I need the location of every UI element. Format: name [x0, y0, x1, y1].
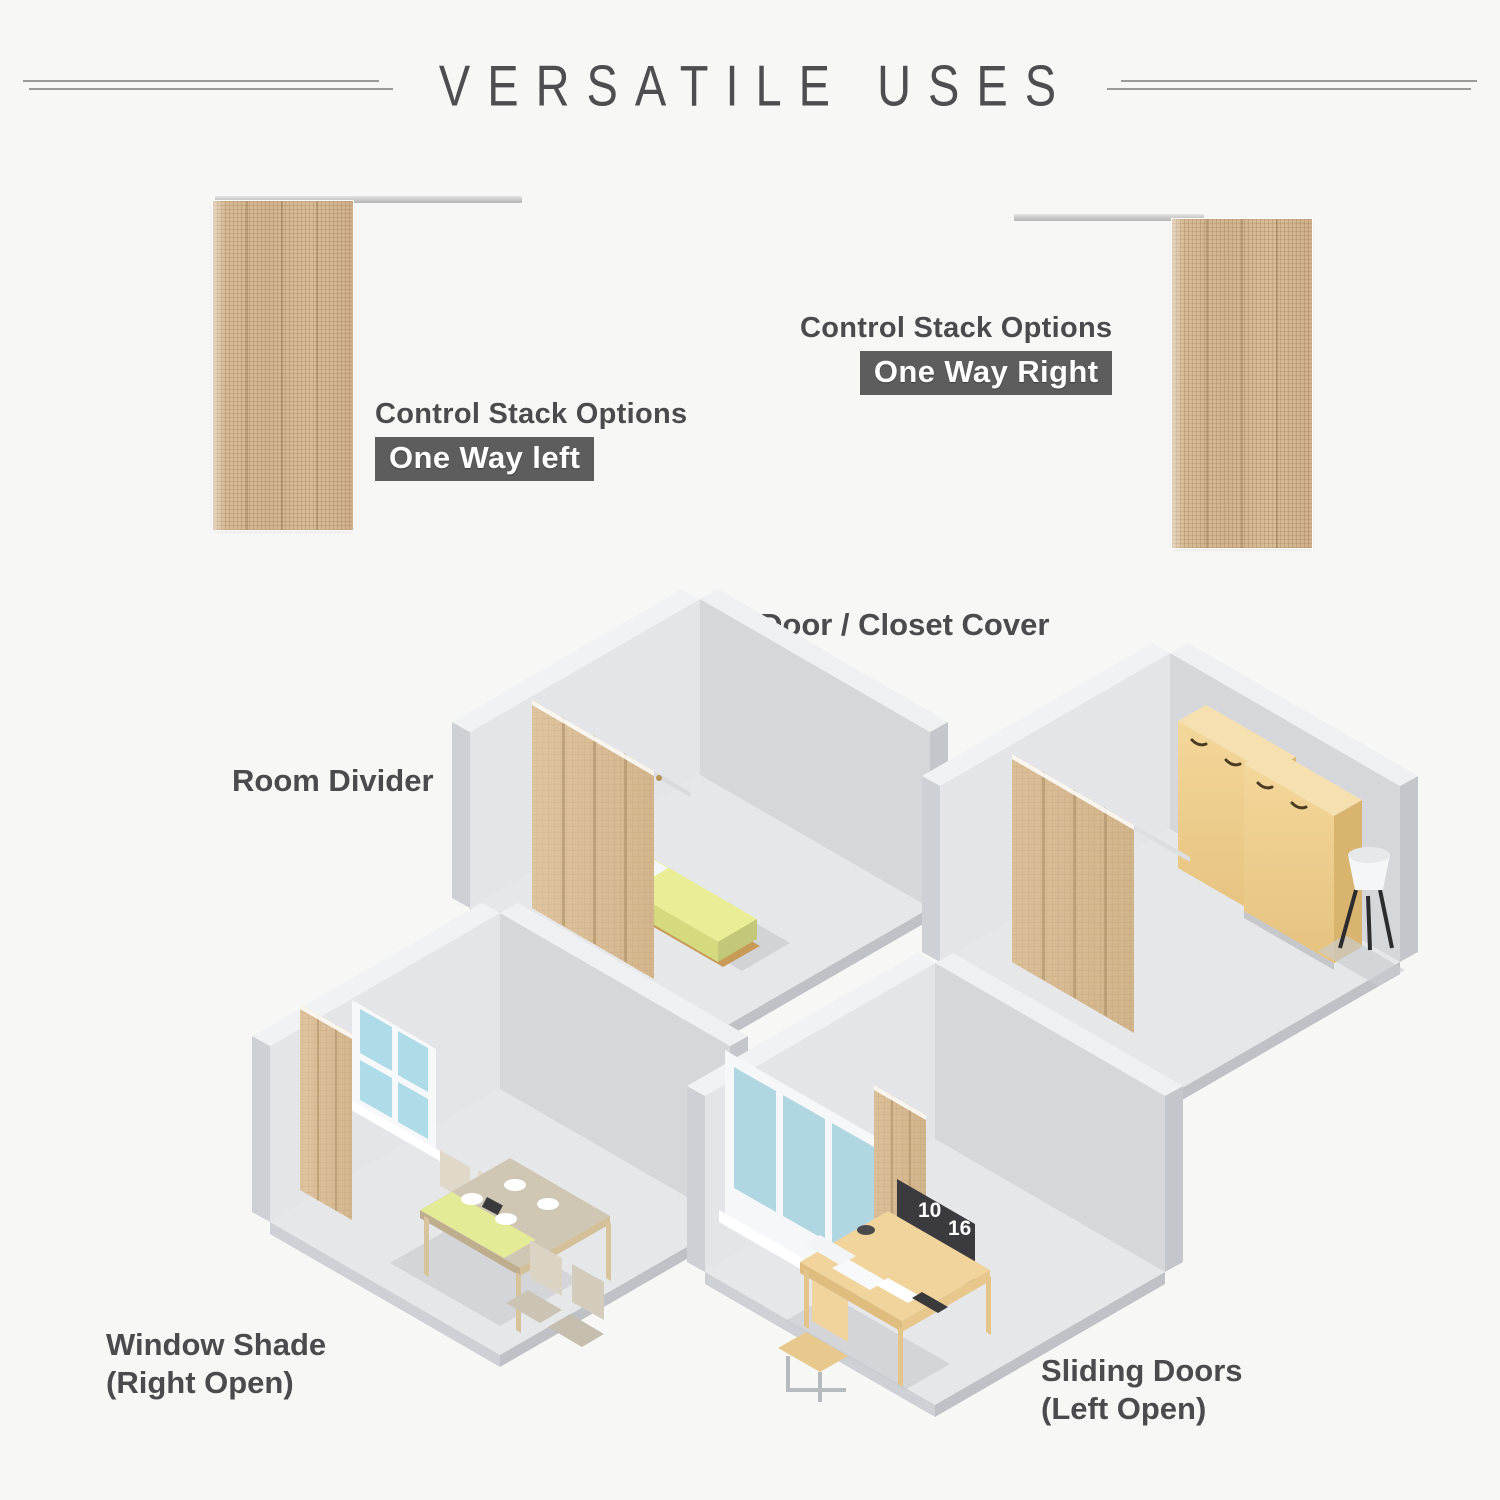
panel-blind-window	[300, 1004, 352, 1220]
title-rule-right	[1107, 78, 1477, 92]
control-stack-label-right: Control Stack Options One Way Right	[800, 310, 1112, 395]
page-header: VERSATILE USES	[0, 0, 1500, 170]
control-stack-title-right: Control Stack Options	[800, 310, 1112, 346]
control-stack-badge-right: One Way Right	[860, 351, 1113, 395]
panel-blind-stack-right	[1172, 219, 1312, 548]
control-stack-title-left: Control Stack Options	[375, 396, 687, 432]
title-rule-left	[23, 78, 393, 92]
control-stack-label-left: Control Stack Options One Way left	[375, 396, 687, 481]
isometric-rooms-illustration: 10 16	[0, 590, 1500, 1420]
monitor-text-right: 16	[948, 1217, 971, 1240]
monitor-text-left: 10	[918, 1199, 941, 1222]
page-title: VERSATILE USES	[393, 51, 1107, 118]
control-stack-badge-left: One Way left	[375, 437, 594, 481]
panel-blind-stack-left	[213, 201, 353, 530]
control-stack-demo-left	[205, 196, 725, 541]
